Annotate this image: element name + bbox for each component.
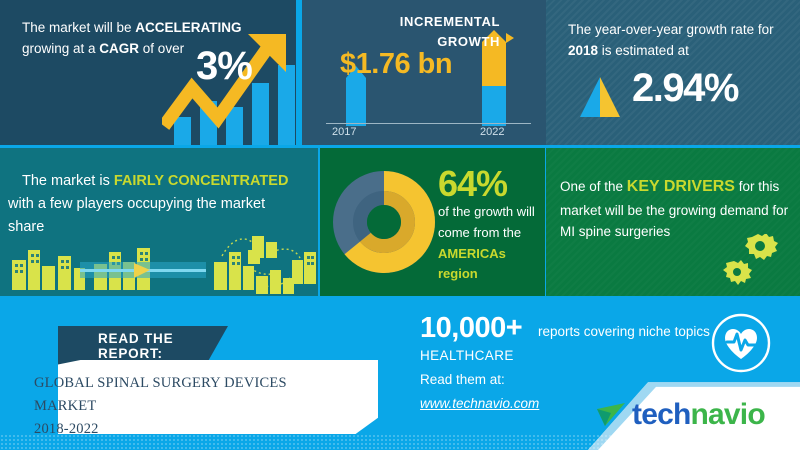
paper-plane-icon (596, 402, 626, 428)
infographic-canvas: The market will be ACCELERATING growing … (0, 0, 800, 450)
panel-key-drivers: One of the KEY DRIVERS for this market w… (546, 148, 800, 296)
technavio-wordmark: technavio (632, 400, 765, 430)
panel-incremental-growth: 2017 2022 INCREMENTAL GROWTH $1.76 bn (302, 0, 546, 145)
donut-region: AMERICAs region (438, 244, 544, 286)
donut-copy: 64% of the growth will come from the AME… (438, 166, 544, 285)
yoy-text-after: is estimated at (598, 43, 689, 58)
report-title: GLOBAL SPINAL SURGERY DEVICES MARKET 201… (34, 372, 314, 442)
report-title-line1: GLOBAL SPINAL SURGERY DEVICES MARKET (34, 375, 287, 414)
read-the-report-tab[interactable]: READ THE REPORT: (58, 326, 228, 365)
city-consolidation-icon (0, 236, 318, 294)
axis-label-2017: 2017 (332, 126, 356, 138)
cagr-text-bold2: CAGR (99, 41, 139, 56)
panel-yoy-growth: The year-over-year growth rate for 2018 … (546, 0, 800, 145)
footer-texture (0, 434, 800, 450)
bar-2022-base (482, 86, 506, 126)
report-count-caption: reports covering niche topics (538, 324, 710, 339)
play-triangle-icon (506, 33, 514, 43)
yoy-copy: The year-over-year growth rate for 2018 … (568, 20, 784, 62)
incremental-value: $1.76 bn (340, 48, 452, 81)
concentration-text-after: with a few players occupying the market … (8, 196, 265, 235)
wordmark-part1: tech (632, 398, 691, 431)
yoy-text-bold: 2018 (568, 43, 598, 58)
concentration-text-highlight: FAIRLY CONCENTRATED (114, 173, 289, 189)
panel-regional-share: 64% of the growth will come from the AME… (320, 148, 545, 296)
sector-label: HEALTHCARE (420, 348, 514, 363)
wordmark-part2: navio (691, 398, 765, 431)
concentration-copy: The market is FAIRLY CONCENTRATED with a… (8, 170, 298, 240)
panel-footer: READ THE REPORT: GLOBAL SPINAL SURGERY D… (0, 296, 800, 450)
yoy-value: 2.94% (632, 66, 738, 111)
drivers-text-highlight: KEY DRIVERS (627, 178, 735, 195)
heart-pulse-icon (710, 312, 772, 374)
incremental-axis (326, 123, 531, 124)
gears-icon (716, 234, 782, 290)
website-url-link[interactable]: www.technavio.com (420, 396, 539, 411)
technavio-logo[interactable]: technavio (596, 400, 765, 430)
drivers-copy: One of the KEY DRIVERS for this market w… (560, 174, 792, 243)
incremental-title-line2: GROWTH (437, 34, 500, 49)
panel-cagr: The market will be ACCELERATING growing … (0, 0, 296, 145)
read-them-at-label: Read them at: (420, 372, 505, 387)
cagr-text-before: The market will be (22, 20, 135, 35)
drivers-text-before: One of the (560, 179, 627, 194)
incremental-title: INCREMENTAL GROWTH (340, 12, 500, 51)
read-the-report-label: READ THE REPORT: (58, 331, 228, 361)
incremental-title-line1: INCREMENTAL (400, 14, 500, 29)
donut-caption-line1: of the growth will (438, 202, 544, 223)
axis-label-2022: 2022 (480, 126, 504, 138)
concentration-text-before: The market is (8, 173, 114, 189)
yoy-text-before: The year-over-year growth rate for (568, 22, 774, 37)
donut-chart-icon (332, 170, 436, 274)
panel-market-concentration: The market is FAIRLY CONCENTRATED with a… (0, 148, 318, 296)
report-count: 10,000+ (420, 312, 522, 345)
growth-triangle-icon (578, 75, 622, 119)
donut-caption-line2: come from the (438, 223, 544, 244)
cagr-text-mid: growing at a (22, 41, 99, 56)
donut-value: 64% (438, 166, 544, 202)
cagr-value: 3% (196, 44, 252, 89)
